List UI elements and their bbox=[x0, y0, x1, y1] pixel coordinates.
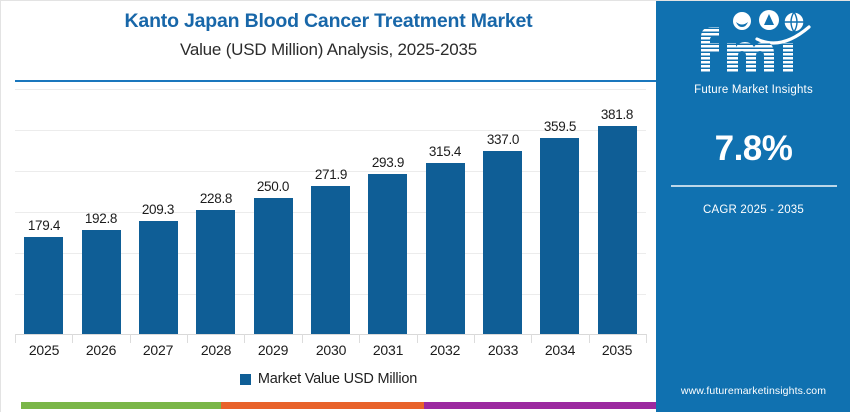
x-axis-tick-label: 2030 bbox=[299, 342, 363, 358]
x-axis-tick-label: 2034 bbox=[528, 342, 592, 358]
x-axis-tick bbox=[302, 334, 303, 343]
bar-2029[interactable] bbox=[254, 198, 293, 335]
x-axis-tick bbox=[589, 334, 590, 343]
page-title: Kanto Japan Blood Cancer Treatment Marke… bbox=[1, 10, 656, 33]
stripe-segment-purple bbox=[424, 402, 656, 409]
stripe-segment-orange bbox=[221, 402, 424, 409]
bar-value-label: 381.8 bbox=[585, 107, 649, 122]
gridline bbox=[15, 89, 646, 90]
bar-2025[interactable] bbox=[24, 237, 63, 335]
x-axis-tick-label: 2033 bbox=[471, 342, 535, 358]
x-axis-tick bbox=[417, 334, 418, 343]
x-axis-tick-label: 2035 bbox=[585, 342, 649, 358]
bar-2027[interactable] bbox=[139, 221, 178, 335]
bar-value-label: 209.3 bbox=[126, 202, 190, 217]
x-axis-tick-label: 2031 bbox=[356, 342, 420, 358]
bar-2031[interactable] bbox=[368, 174, 407, 335]
chart-legend: Market Value USD Million bbox=[1, 371, 656, 387]
legend-swatch-icon bbox=[240, 374, 251, 385]
fmi-logo-icon bbox=[679, 9, 829, 81]
header-divider bbox=[15, 80, 656, 82]
bar-value-label: 359.5 bbox=[528, 119, 592, 134]
bar-2030[interactable] bbox=[311, 186, 350, 335]
chart-infographic: Kanto Japan Blood Cancer Treatment Marke… bbox=[0, 0, 850, 412]
x-axis-tick-label: 2027 bbox=[126, 342, 190, 358]
x-axis-tick bbox=[130, 334, 131, 343]
cagr-divider bbox=[671, 185, 837, 187]
bar-value-label: 250.0 bbox=[241, 179, 305, 194]
plot-area: 179.4192.8209.3228.8250.0271.9293.9315.4… bbox=[15, 89, 646, 335]
x-axis-tick bbox=[187, 334, 188, 343]
legend-label: Market Value USD Million bbox=[258, 371, 417, 387]
bar-2028[interactable] bbox=[196, 210, 235, 335]
bar-value-label: 271.9 bbox=[299, 167, 363, 182]
x-axis-tick bbox=[72, 334, 73, 343]
bar-2032[interactable] bbox=[426, 163, 465, 335]
bar-value-label: 179.4 bbox=[12, 218, 76, 233]
x-axis-tick-label: 2032 bbox=[413, 342, 477, 358]
bar-value-label: 293.9 bbox=[356, 155, 420, 170]
stripe-segment-green bbox=[21, 402, 221, 409]
brand-website-url[interactable]: www.futuremarketinsights.com bbox=[656, 385, 850, 397]
bar-2026[interactable] bbox=[82, 230, 121, 335]
x-axis-tick bbox=[646, 334, 647, 343]
x-axis-tick bbox=[359, 334, 360, 343]
brand-panel: Future Market Insights 7.8% CAGR 2025 - … bbox=[656, 1, 850, 412]
bar-2034[interactable] bbox=[540, 138, 579, 335]
page-subtitle: Value (USD Million) Analysis, 2025-2035 bbox=[1, 40, 656, 60]
x-axis-line bbox=[15, 334, 646, 335]
cagr-value: 7.8% bbox=[656, 129, 850, 169]
bar-2033[interactable] bbox=[483, 151, 522, 335]
x-axis-tick-label: 2025 bbox=[12, 342, 76, 358]
x-axis-tick-label: 2029 bbox=[241, 342, 305, 358]
chart-region: Kanto Japan Blood Cancer Treatment Marke… bbox=[1, 1, 656, 412]
cagr-block: 7.8% CAGR 2025 - 2035 bbox=[656, 129, 850, 216]
x-axis-labels: 2025202620272028202920302031203220332034… bbox=[15, 342, 646, 364]
cagr-caption: CAGR 2025 - 2035 bbox=[656, 204, 850, 216]
bar-2035[interactable] bbox=[598, 126, 637, 335]
chart-header: Kanto Japan Blood Cancer Treatment Marke… bbox=[1, 1, 656, 81]
x-axis-tick bbox=[474, 334, 475, 343]
x-axis-tick bbox=[244, 334, 245, 343]
x-axis-tick-label: 2028 bbox=[184, 342, 248, 358]
bar-value-label: 228.8 bbox=[184, 191, 248, 206]
x-axis-tick-label: 2026 bbox=[69, 342, 133, 358]
x-axis-tick bbox=[531, 334, 532, 343]
bottom-color-stripe bbox=[1, 402, 656, 409]
x-axis-tick bbox=[15, 334, 16, 343]
fmi-logo-block: Future Market Insights bbox=[656, 9, 850, 96]
bar-value-label: 315.4 bbox=[413, 144, 477, 159]
bar-value-label: 192.8 bbox=[69, 211, 133, 226]
brand-tagline: Future Market Insights bbox=[656, 84, 850, 96]
bar-value-label: 337.0 bbox=[471, 132, 535, 147]
